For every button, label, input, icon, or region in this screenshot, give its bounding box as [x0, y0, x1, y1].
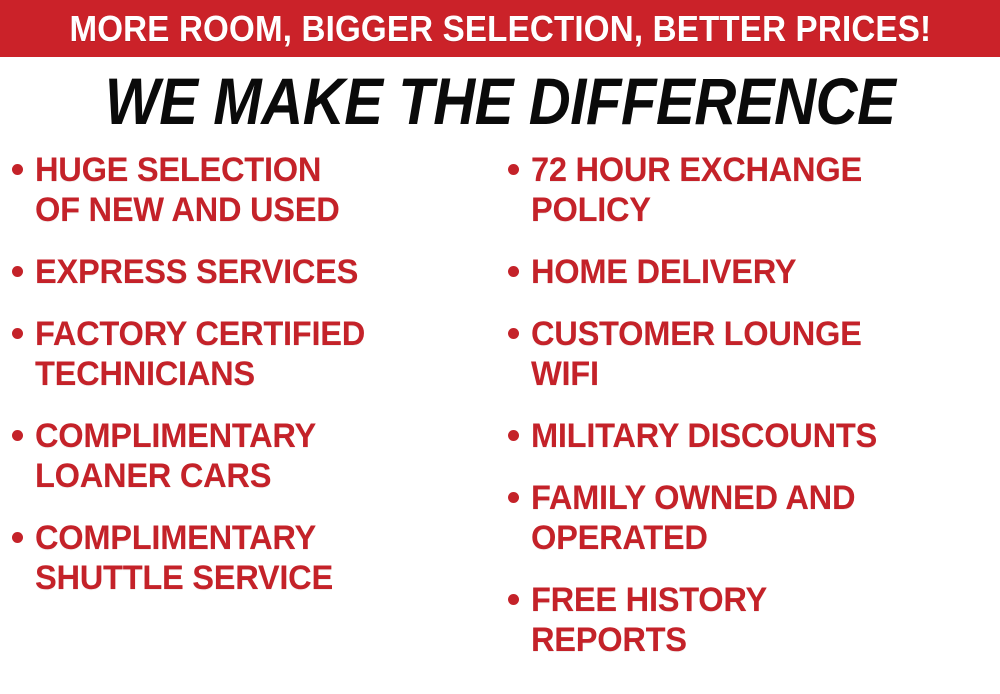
- advertisement-banner: MORE ROOM, BIGGER SELECTION, BETTER PRIC…: [0, 0, 1000, 694]
- list-item: FACTORY CERTIFIED TECHNICIANS: [12, 314, 492, 394]
- list-item-label: 72 HOUR EXCHANGE POLICY: [531, 150, 981, 230]
- list-item-label: HUGE SELECTION OF NEW AND USED: [35, 150, 474, 230]
- list-item-label: HOME DELIVERY: [531, 252, 981, 292]
- round-bullet-icon: [12, 266, 23, 277]
- list-item: FREE HISTORY REPORTS: [508, 580, 1000, 660]
- feature-column-left: HUGE SELECTION OF NEW AND USED EXPRESS S…: [12, 150, 492, 694]
- list-item-label: FACTORY CERTIFIED TECHNICIANS: [35, 314, 474, 394]
- round-bullet-icon: [508, 430, 519, 441]
- list-item: EXPRESS SERVICES: [12, 252, 492, 292]
- list-item: HOME DELIVERY: [508, 252, 1000, 292]
- list-item-label: FREE HISTORY REPORTS: [531, 580, 981, 660]
- promo-banner-text: MORE ROOM, BIGGER SELECTION, BETTER PRIC…: [69, 11, 931, 47]
- list-item: HUGE SELECTION OF NEW AND USED: [12, 150, 492, 230]
- list-item: CUSTOMER LOUNGE WIFI: [508, 314, 1000, 394]
- list-item: MILITARY DISCOUNTS: [508, 416, 1000, 456]
- round-bullet-icon: [12, 328, 23, 339]
- list-item: COMPLIMENTARY LOANER CARS: [12, 416, 492, 496]
- feature-columns: HUGE SELECTION OF NEW AND USED EXPRESS S…: [0, 150, 1000, 694]
- list-item-label: COMPLIMENTARY SHUTTLE SERVICE: [35, 518, 474, 598]
- round-bullet-icon: [508, 164, 519, 175]
- promo-banner: MORE ROOM, BIGGER SELECTION, BETTER PRIC…: [0, 0, 1000, 57]
- round-bullet-icon: [12, 164, 23, 175]
- round-bullet-icon: [508, 266, 519, 277]
- list-item: FAMILY OWNED AND OPERATED: [508, 478, 1000, 558]
- list-item: 72 HOUR EXCHANGE POLICY: [508, 150, 1000, 230]
- list-item-label: EXPRESS SERVICES: [35, 252, 474, 292]
- round-bullet-icon: [12, 430, 23, 441]
- list-item-label: MILITARY DISCOUNTS: [531, 416, 981, 456]
- list-item: COMPLIMENTARY SHUTTLE SERVICE: [12, 518, 492, 598]
- round-bullet-icon: [508, 492, 519, 503]
- headline-container: WE MAKE THE DIFFERENCE: [0, 62, 1000, 140]
- list-item-label: FAMILY OWNED AND OPERATED: [531, 478, 981, 558]
- feature-column-right: 72 HOUR EXCHANGE POLICY HOME DELIVERY CU…: [508, 150, 1000, 694]
- page-title: WE MAKE THE DIFFERENCE: [105, 68, 896, 134]
- round-bullet-icon: [12, 532, 23, 543]
- round-bullet-icon: [508, 328, 519, 339]
- list-item-label: COMPLIMENTARY LOANER CARS: [35, 416, 474, 496]
- list-item-label: CUSTOMER LOUNGE WIFI: [531, 314, 981, 394]
- round-bullet-icon: [508, 594, 519, 605]
